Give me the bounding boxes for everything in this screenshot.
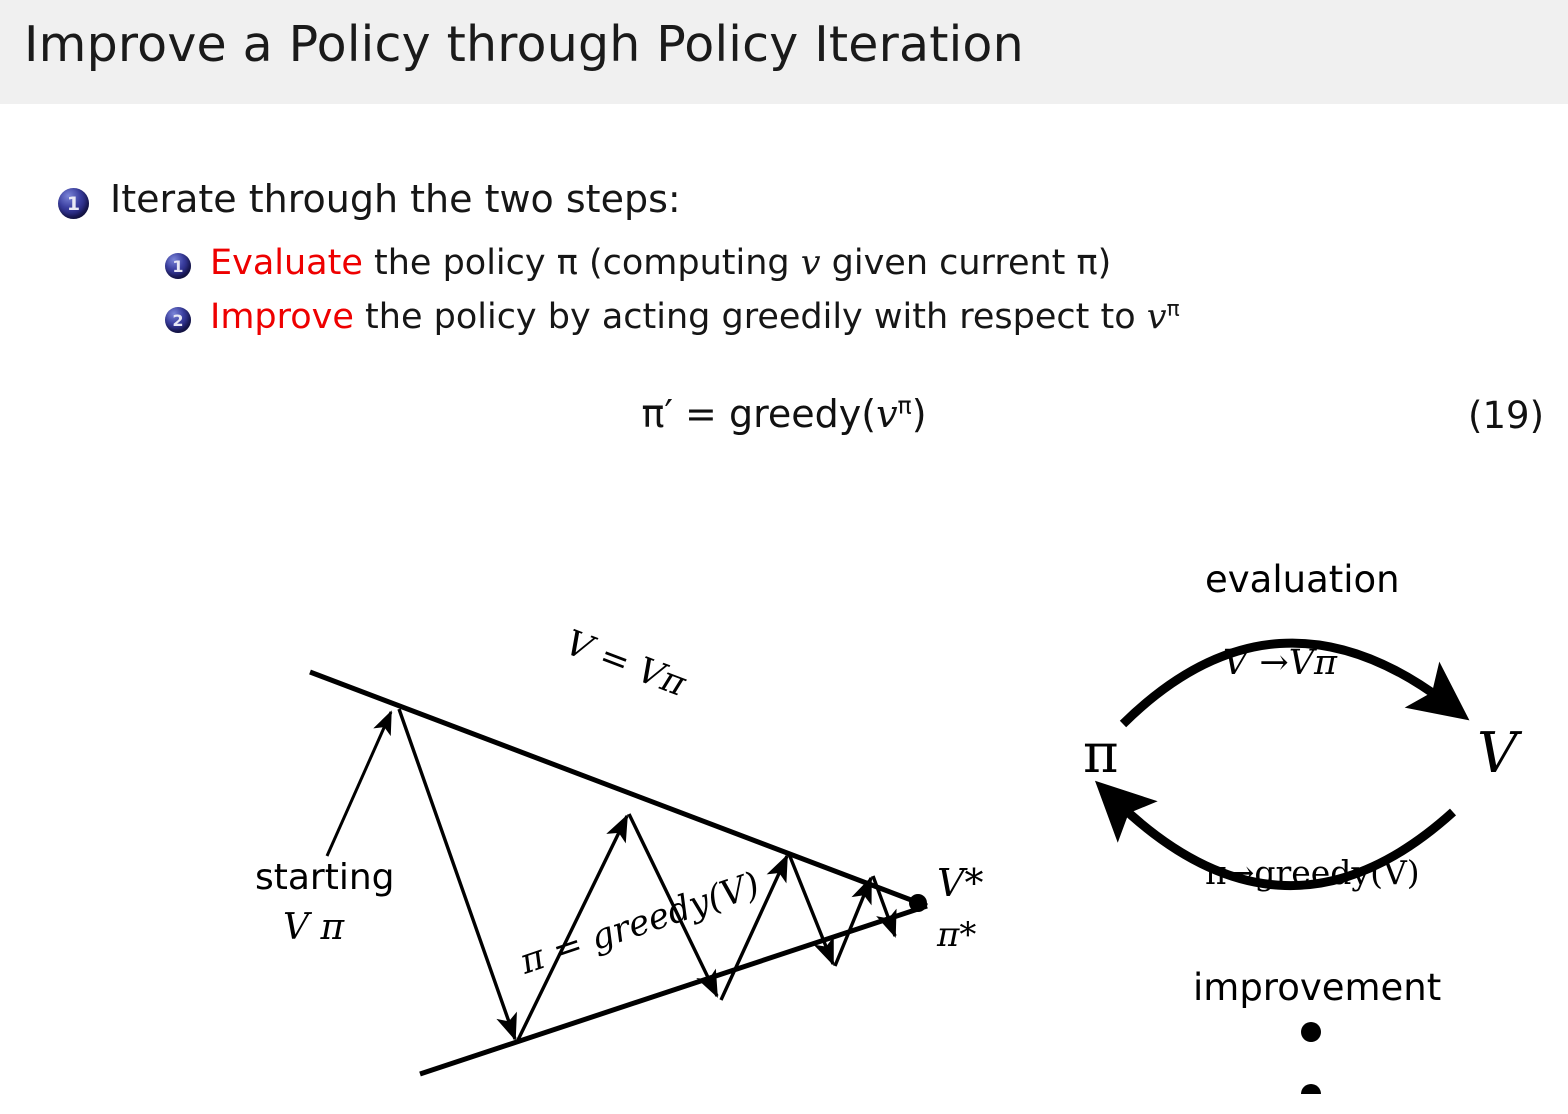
list-item-improve: 2 Improve the policy by acting greedily …	[165, 300, 1180, 335]
keyword-evaluate: Evaluate	[210, 243, 363, 283]
improvement-label: improvement	[1193, 966, 1441, 1009]
optimal-policy-label: π*	[936, 915, 976, 955]
bullet-badge-1: 1	[58, 188, 89, 219]
gpi-cycle-diagram: evaluation V →Vπ π→greedy(V) improvement…	[1045, 534, 1545, 1094]
convergence-point-dot	[909, 894, 927, 912]
lower-line-label: π = greedy(V)	[514, 865, 765, 983]
improve-text-1: the policy by acting greedily with respe…	[354, 297, 1147, 337]
evaluate-text-1: the policy	[363, 243, 557, 283]
evaluate-text-4: )	[1098, 243, 1112, 283]
equation-number: (19)	[1468, 394, 1544, 437]
zigzag-arrows	[399, 709, 895, 1042]
evaluation-arc-label: V →Vπ	[1223, 643, 1338, 683]
trailing-dot-1	[1301, 1022, 1321, 1042]
equation-close-paren: )	[912, 392, 927, 436]
equation-policy-greedy: π′ = greedy(vπ)	[0, 392, 1568, 436]
list-item-label: Iterate through the two steps:	[110, 180, 681, 218]
bullet-badge-sub-1: 1	[165, 253, 191, 279]
evaluate-text-3: given current	[821, 243, 1077, 283]
improvement-arc-label: π→greedy(V)	[1205, 853, 1420, 892]
slide-content: 1 Iterate through the two steps: 1 Evalu…	[0, 104, 1568, 1080]
sub-item-improve-text: Improve the policy by acting greedily wi…	[210, 300, 1180, 335]
page-title: Improve a Policy through Policy Iteratio…	[24, 16, 1024, 73]
upper-line-label: V = Vπ	[560, 623, 692, 705]
pi-symbol-1: π	[557, 243, 578, 283]
improvement-arrow-4	[873, 876, 895, 936]
list-item-evaluate: 1 Evaluate the policy π (computing v giv…	[165, 246, 1111, 281]
v-superscript-pi: π	[1167, 296, 1180, 321]
upper-line-v-equals-vpi	[310, 672, 927, 906]
v-symbol-2: v	[1147, 297, 1167, 337]
policy-node-label: π	[1083, 722, 1119, 785]
equation-greedy: greedy(	[729, 392, 876, 436]
slide-header: Improve a Policy through Policy Iteratio…	[0, 0, 1568, 104]
sub-item-evaluate-text: Evaluate the policy π (computing v given…	[210, 246, 1111, 281]
optimal-value-label: V*	[937, 861, 983, 905]
equation-v: v	[876, 392, 897, 436]
starting-label-line2: V π	[283, 907, 345, 948]
starting-pointer-arrow	[327, 712, 391, 856]
pi-symbol-2: π	[1077, 243, 1098, 283]
value-node-label: V	[1477, 721, 1523, 786]
starting-label-line1: starting	[255, 857, 395, 898]
evaluation-label: evaluation	[1205, 558, 1400, 601]
improvement-arrow-1	[399, 709, 515, 1039]
equation-pi-prime: π′	[641, 392, 673, 436]
evaluation-arrow-3	[835, 878, 871, 966]
equation-equals: =	[673, 392, 729, 436]
bullet-badge-sub-2: 2	[165, 307, 191, 333]
trailing-dot-2	[1301, 1084, 1321, 1094]
keyword-improve: Improve	[210, 297, 354, 337]
equation-row: π′ = greedy(vπ) (19)	[0, 392, 1568, 452]
policy-iteration-convergence-diagram: V = Vπ π = greedy(V) starting V π V* π*	[215, 534, 1005, 1114]
evaluate-text-2: (computing	[578, 243, 801, 283]
v-symbol-1: v	[801, 243, 821, 283]
equation-v-superscript: π	[898, 391, 912, 419]
list-item-iterate: 1 Iterate through the two steps:	[58, 180, 681, 219]
